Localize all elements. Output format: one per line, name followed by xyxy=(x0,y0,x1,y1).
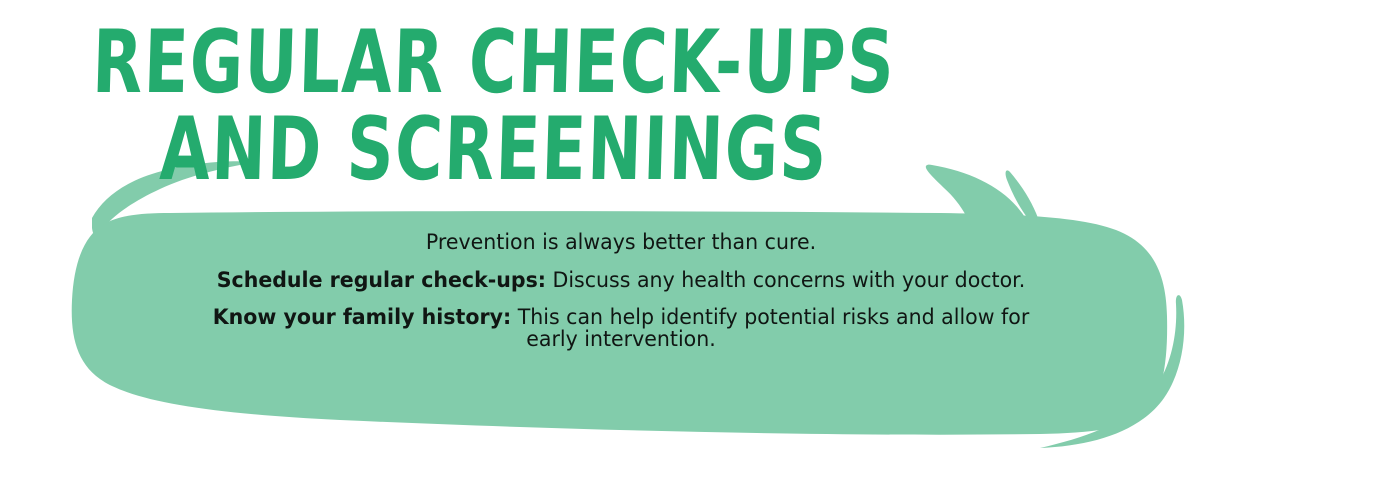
poster-title: REGULAR CHECK-UPS AND SCREENINGS xyxy=(0,22,990,172)
bubble-line-2-rest: Discuss any health concerns with your do… xyxy=(546,268,1025,293)
bubble-line-1: Prevention is always better than cure. xyxy=(123,232,1118,254)
brush-leaf-sliver xyxy=(1006,170,1040,227)
bubble-line-2: Schedule regular check-ups: Discuss any … xyxy=(123,270,1118,292)
bubble-line-2-lead: Schedule regular check-ups: xyxy=(217,268,546,293)
bubble-line-1-text: Prevention is always better than cure. xyxy=(426,230,816,255)
bubble-line-3-lead: Know your family history: xyxy=(213,305,511,330)
bubble-line-4: early intervention. xyxy=(123,329,1118,351)
bubble-text-block: Prevention is always better than cure. S… xyxy=(100,232,1142,350)
bubble-line-3: Know your family history: This can help … xyxy=(123,307,1118,350)
poster-canvas: REGULAR CHECK-UPS AND SCREENINGS Prevent… xyxy=(0,0,1400,487)
title-line-2: AND SCREENINGS xyxy=(13,109,976,191)
title-line-1: REGULAR CHECK-UPS xyxy=(13,22,976,104)
